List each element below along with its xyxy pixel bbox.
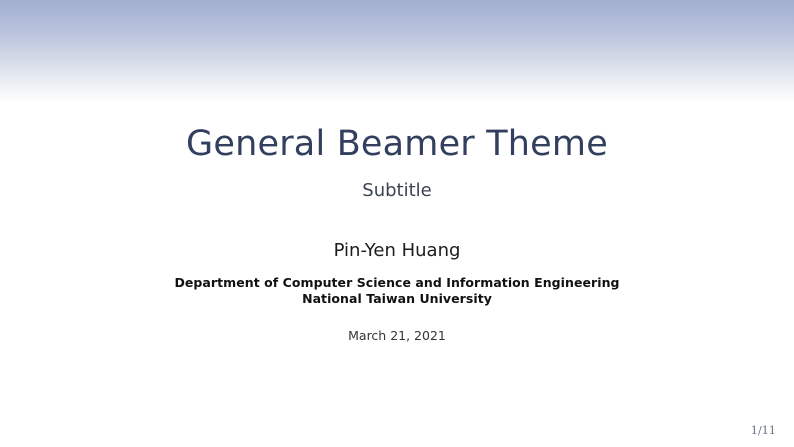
institute-line-university: National Taiwan University (0, 291, 794, 307)
institute-line-department: Department of Computer Science and Infor… (0, 275, 794, 291)
date-block: March 21, 2021 (0, 327, 794, 345)
page-number: 1/11 (751, 424, 776, 438)
slide-title: General Beamer Theme (0, 122, 794, 166)
slide-subtitle: Subtitle (0, 178, 794, 204)
title-block: General Beamer Theme Subtitle (0, 122, 794, 204)
presentation-slide: General Beamer Theme Subtitle Pin-Yen Hu… (0, 0, 794, 447)
slide-content: General Beamer Theme Subtitle Pin-Yen Hu… (0, 0, 794, 447)
author-block: Pin-Yen Huang Department of Computer Sci… (0, 238, 794, 307)
author-name: Pin-Yen Huang (0, 238, 794, 263)
institute: Department of Computer Science and Infor… (0, 275, 794, 307)
presentation-date: March 21, 2021 (0, 327, 794, 345)
